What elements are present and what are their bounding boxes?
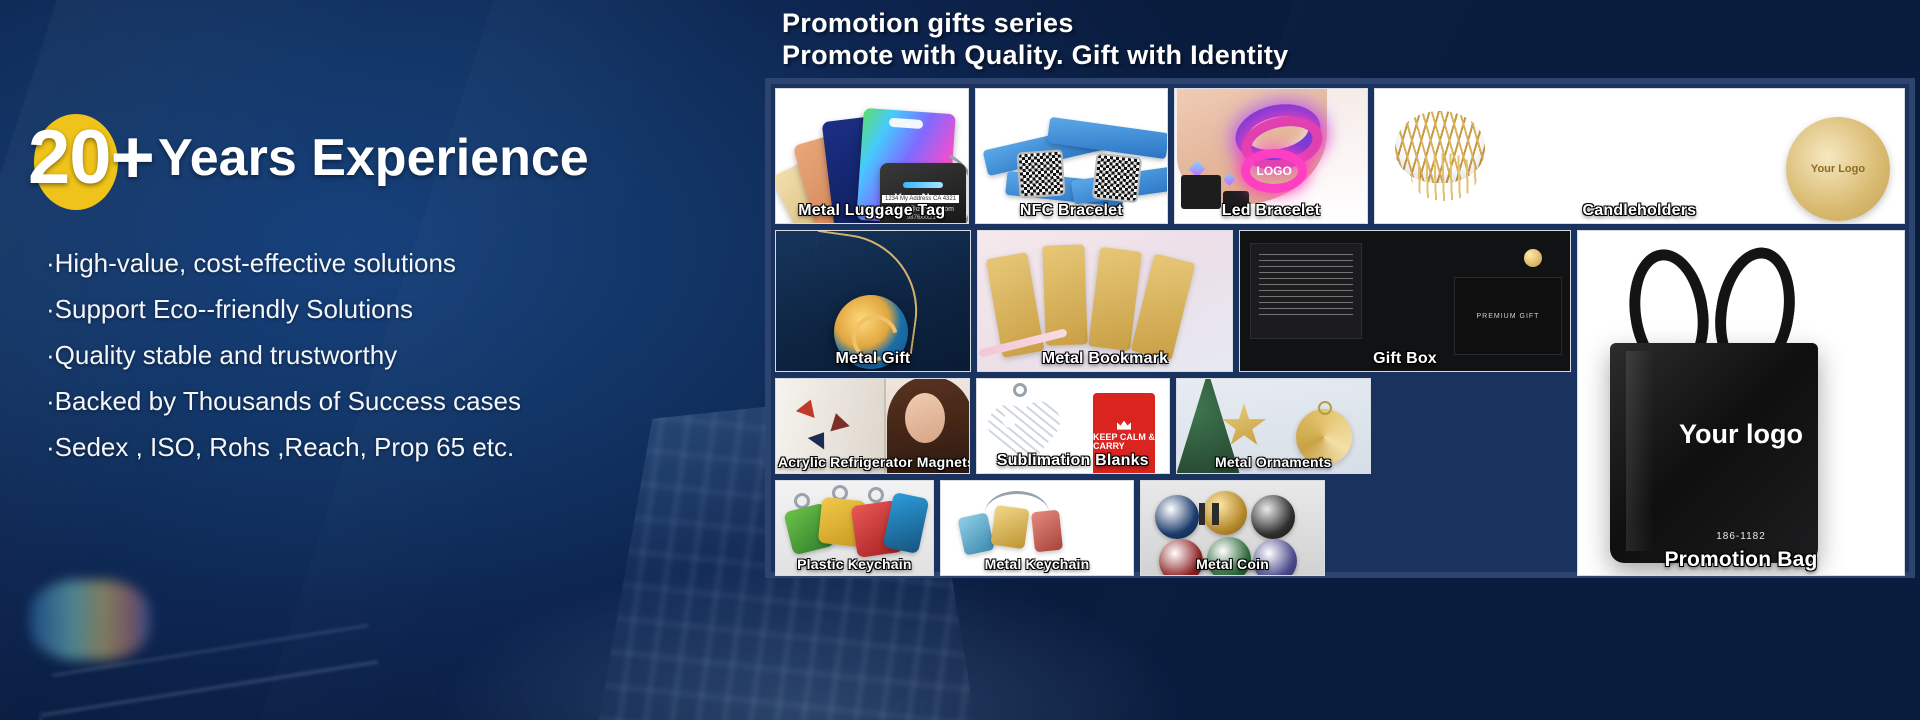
tile-caption: Acrylic Refrigerator Magnets [776, 453, 969, 473]
list-item: ·Support Eco--friendly Solutions [46, 292, 521, 328]
tile-promotion-bag[interactable]: Your logo 186-1182 Promotion Bag [1577, 230, 1905, 576]
tile-metal-gift[interactable]: Metal Gift [775, 230, 971, 372]
list-item: ·Quality stable and trustworthy [46, 338, 521, 374]
tile-metal-luggage-tag[interactable]: Your Name email@domian.com 9876xxx210 12… [775, 88, 969, 224]
tile-metal-keychain[interactable]: Metal Keychain [940, 480, 1135, 576]
tile-gift-box[interactable]: PREMIUM GIFT Gift Box [1239, 230, 1571, 372]
tile-nfc-bracelet[interactable]: NFC Bracelet [975, 88, 1169, 224]
list-item: ·Backed by Thousands of Success cases [46, 384, 521, 420]
list-item: ·Sedex , ISO, Rohs ,Reach, Prop 65 etc. [46, 430, 521, 466]
collage-row-3: Acrylic Refrigerator Magnets KEEP CALM &… [775, 378, 1571, 474]
promotion-bag-photo: Your logo 186-1182 [1578, 231, 1904, 575]
tile-caption: Metal Luggage Tag [776, 201, 968, 223]
tile-caption: Metal Ornaments [1177, 453, 1370, 473]
collage-row-2: Metal Gift Metal Bookmark PRE [775, 230, 1571, 372]
tile-plastic-keychain[interactable]: Plastic Keychain [775, 480, 934, 576]
tile-caption: Led Bracelet [1175, 201, 1367, 223]
tile-led-bracelet[interactable]: LOGO Led Bracelet [1174, 88, 1368, 224]
artwork-bag-code: 186-1182 [1578, 531, 1904, 542]
artwork-keep-calm: KEEP CALM & CARRY [1093, 433, 1155, 452]
tile-sublimation-blanks[interactable]: KEEP CALM & CARRY Sublimation Blanks [976, 378, 1171, 474]
headline-number: 20 [28, 120, 111, 196]
tile-acrylic-refrigerator-magnets[interactable]: Acrylic Refrigerator Magnets [775, 378, 970, 474]
qr-code-icon [1016, 149, 1065, 198]
qr-code-icon [1091, 153, 1142, 204]
tile-caption: Metal Gift [776, 349, 970, 371]
collage-title-block: Promotion gifts series Promote with Qual… [782, 8, 1289, 72]
collage-lower-section: Metal Gift Metal Bookmark PRE [775, 230, 1905, 576]
collage-title-line1: Promotion gifts series [782, 8, 1289, 40]
headline-suffix: Years Experience [158, 132, 589, 184]
artwork-candle-logo: Your Logo [1811, 163, 1865, 175]
tile-caption: Metal Coin [1141, 555, 1324, 575]
left-content-column: 20 + Years Experience ·High-value, cost-… [0, 0, 760, 720]
tile-candleholders[interactable]: Your Logo Candleholders [1374, 88, 1905, 224]
tile-metal-ornaments[interactable]: Metal Ornaments [1176, 378, 1371, 474]
benefits-list: ·High-value, cost-effective solutions ·S… [46, 246, 521, 465]
tile-caption: Candleholders [1375, 201, 1904, 223]
tile-caption: Metal Bookmark [978, 349, 1232, 371]
tile-caption: Promotion Bag [1578, 547, 1904, 575]
tile-metal-bookmark[interactable]: Metal Bookmark [977, 230, 1233, 372]
tile-caption: Sublimation Blanks [977, 451, 1170, 473]
tile-metal-coin[interactable]: Metal Coin [1140, 480, 1325, 576]
headline-plus: + [111, 120, 154, 196]
promo-banner: 20 + Years Experience ·High-value, cost-… [0, 0, 1920, 720]
tile-caption: Plastic Keychain [776, 555, 933, 575]
tile-caption: Metal Keychain [941, 555, 1134, 575]
tile-caption: Gift Box [1240, 349, 1570, 371]
artwork-bag-logo: Your logo [1578, 419, 1904, 450]
artwork-led-logo: LOGO [1256, 164, 1291, 178]
product-collage: Your Name email@domian.com 9876xxx210 12… [765, 78, 1915, 578]
collage-row-1: Your Name email@domian.com 9876xxx210 12… [775, 88, 1905, 224]
collage-title-line2: Promote with Quality. Gift with Identity [782, 40, 1289, 72]
tile-caption: NFC Bracelet [976, 201, 1168, 223]
list-item: ·High-value, cost-effective solutions [46, 246, 521, 282]
collage-left-block: Metal Gift Metal Bookmark PRE [775, 230, 1571, 576]
headline: 20 + Years Experience [28, 120, 589, 196]
collage-row-4: Plastic Keychain Metal Keychain [775, 480, 1571, 576]
